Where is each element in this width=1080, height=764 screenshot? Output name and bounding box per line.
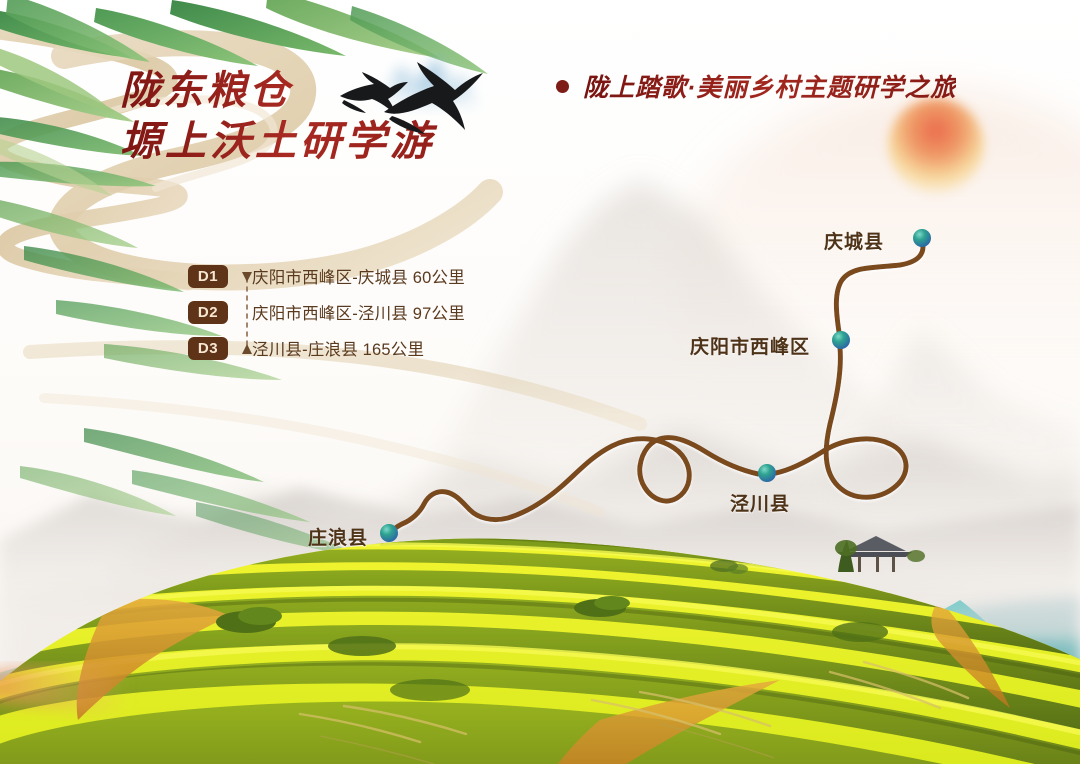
- route-node-zhuanglang: [380, 524, 398, 542]
- route-label-zhuanglang[interactable]: 庄浪县: [308, 523, 368, 550]
- route-node-qingcheng: [913, 229, 931, 247]
- route-map: [0, 0, 1080, 764]
- route-label-jingchuan[interactable]: 泾川县: [730, 489, 790, 516]
- route-node-xifeng: [832, 331, 850, 349]
- route-label-qingcheng[interactable]: 庆城县: [824, 227, 884, 254]
- route-node-jingchuan: [758, 464, 776, 482]
- poster-canvas: 陇东粮仓 塬上沃土研学游 陇上踏歌·美丽乡村主题研学之旅: [0, 0, 1080, 764]
- route-label-xifeng[interactable]: 庆阳市西峰区: [690, 332, 810, 359]
